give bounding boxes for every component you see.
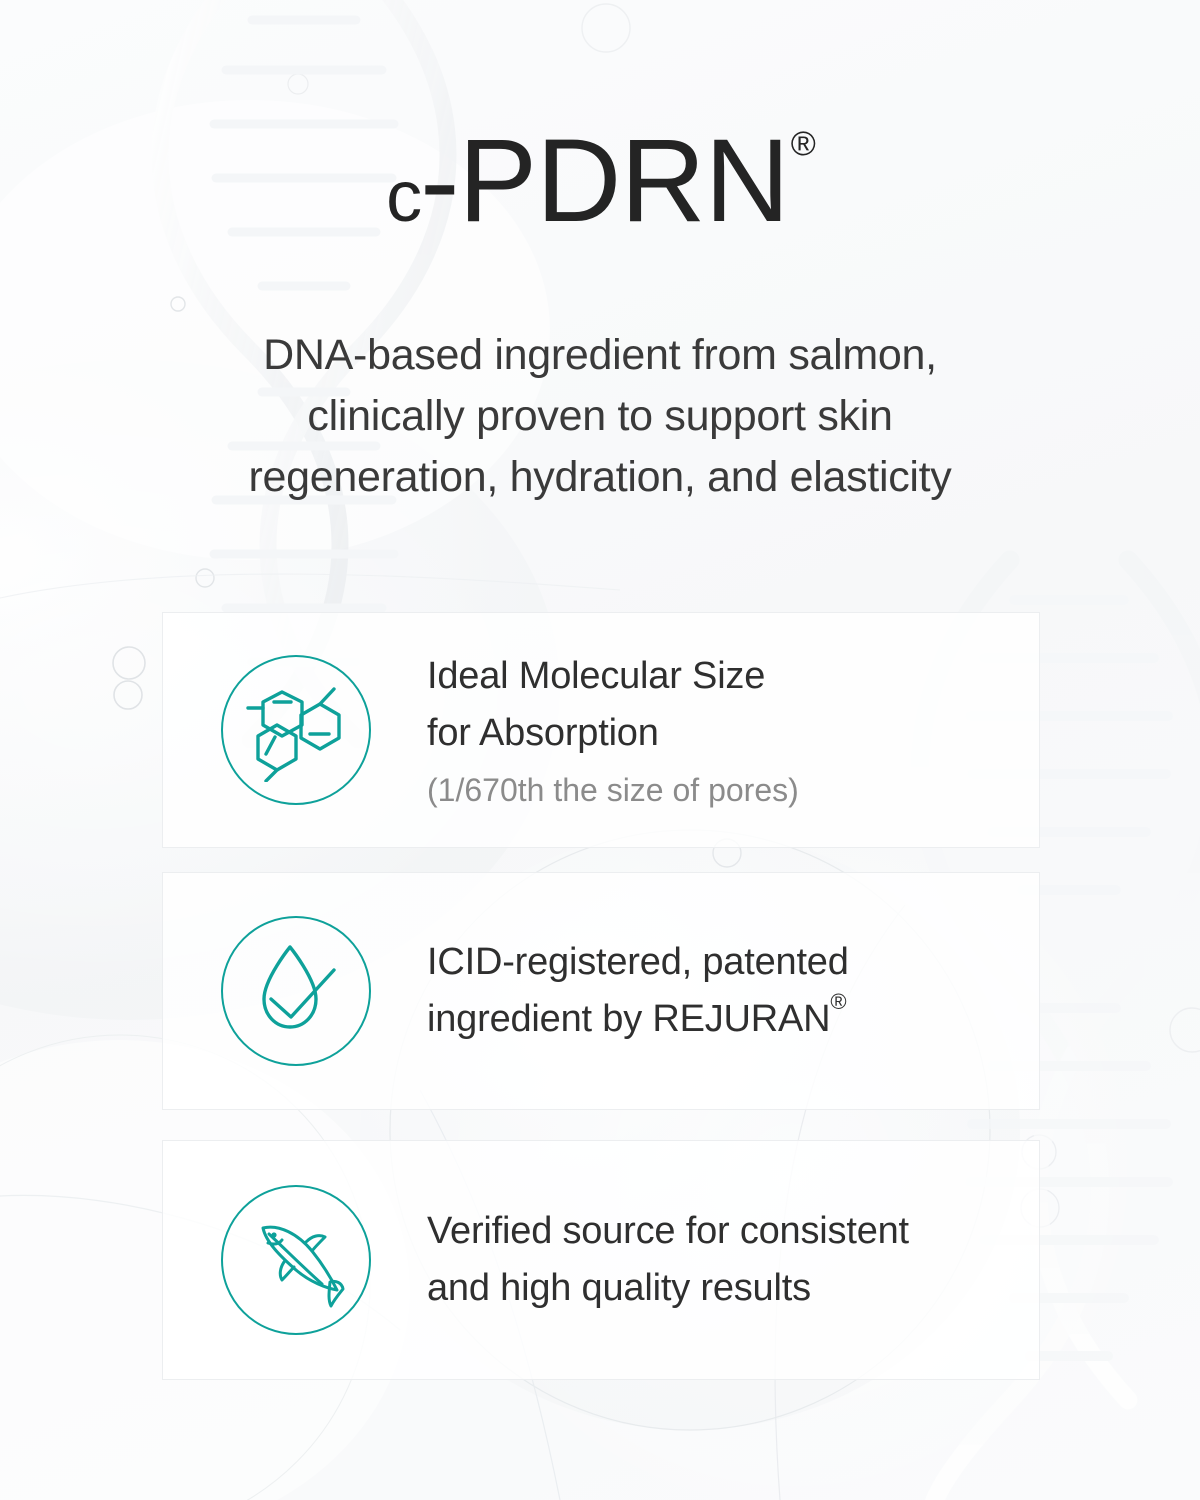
- bubble-outline: [114, 681, 142, 709]
- brand-main: -PDRN: [420, 115, 789, 247]
- feature-card-title: Ideal Molecular Size for Absorption: [427, 648, 799, 762]
- feature-card-text: Verified source for consistent and high …: [427, 1203, 909, 1317]
- bubble-outline: [1170, 1008, 1200, 1052]
- feature-card-title-line-2: ingredient by REJURAN®: [427, 991, 849, 1048]
- molecule-icon: [221, 655, 371, 805]
- feature-card-title-line-2: for Absorption: [427, 705, 799, 762]
- registered-trademark-symbol: ®: [830, 989, 846, 1014]
- promo-page: c-PDRN® DNA-based ingredient from salmon…: [0, 0, 1200, 1500]
- feature-card-title: ICID-registered, patented ingredient by …: [427, 934, 849, 1048]
- feature-card-title-line-2: and high quality results: [427, 1260, 909, 1317]
- feature-card-subtext: (1/670th the size of pores): [427, 770, 799, 812]
- bubble-outline: [582, 4, 630, 52]
- feature-card-title-line-1: Verified source for consistent: [427, 1203, 909, 1260]
- brand-title: c-PDRN®: [386, 120, 814, 244]
- brand-lead-letter: c: [386, 157, 420, 237]
- feature-card-list: Ideal Molecular Size for Absorption (1/6…: [162, 612, 1040, 1380]
- feature-card-text: Ideal Molecular Size for Absorption (1/6…: [427, 648, 799, 812]
- subtitle-line-3: regeneration, hydration, and elasticity: [0, 447, 1200, 508]
- feature-card-title: Verified source for consistent and high …: [427, 1203, 909, 1317]
- subtitle: DNA-based ingredient from salmon, clinic…: [0, 325, 1200, 508]
- feature-card-title-line-1: Ideal Molecular Size: [427, 648, 799, 705]
- bubble-outline: [171, 297, 185, 311]
- water-drop-check-icon: [221, 916, 371, 1066]
- feature-card-title-line-2-text: ingredient by REJURAN: [427, 998, 830, 1040]
- bubble-outline: [288, 74, 308, 94]
- feature-card: ICID-registered, patented ingredient by …: [162, 872, 1040, 1110]
- registered-trademark-symbol: ®: [791, 125, 816, 163]
- feature-card-text: ICID-registered, patented ingredient by …: [427, 934, 849, 1048]
- feature-card: Verified source for consistent and high …: [162, 1140, 1040, 1380]
- subtitle-line-1: DNA-based ingredient from salmon,: [0, 325, 1200, 386]
- feature-card-title-line-1: ICID-registered, patented: [427, 934, 849, 991]
- bubble-outline: [196, 569, 214, 587]
- fish-icon: [221, 1185, 371, 1335]
- bubble-outline: [113, 647, 145, 679]
- page-title: c-PDRN®: [0, 120, 1200, 244]
- feature-card: Ideal Molecular Size for Absorption (1/6…: [162, 612, 1040, 848]
- gel-streak: [0, 574, 620, 598]
- subtitle-line-2: clinically proven to support skin: [0, 386, 1200, 447]
